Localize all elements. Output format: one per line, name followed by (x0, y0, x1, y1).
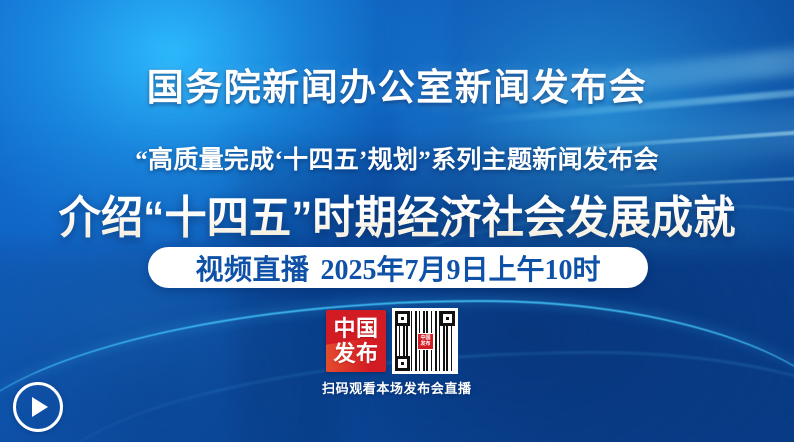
topic-headline: 介绍“十四五”时期经济社会发展成就 (24, 181, 770, 246)
qr-logo-block: 中国 发布 中国 发布 扫码观看本场发布会直播 (322, 307, 464, 397)
qr-finder-top-right (440, 311, 455, 326)
qr-caption: 扫码观看本场发布会直播 (322, 378, 464, 397)
brand-logo-line-1: 中国 (333, 316, 378, 341)
broadcast-banner: 国务院新闻办公室新闻发布会 “高质量完成‘十四五’规划”系列主题新闻发布会 介绍… (0, 0, 794, 442)
series-subtitle: “高质量完成‘十四五’规划”系列主题新闻发布会 (0, 140, 794, 176)
qr-finder-bottom-left (395, 356, 410, 371)
qr-finder-top-left (395, 311, 410, 326)
live-broadcast-pill[interactable]: 视频直播 2025年7月9日上午10时 (148, 247, 648, 288)
brand-logo-line-2: 发布 (333, 341, 378, 366)
qr-center-line-2: 发布 (420, 342, 430, 348)
play-button[interactable] (13, 382, 63, 432)
content-layer: 国务院新闻办公室新闻发布会 “高质量完成‘十四五’规划”系列主题新闻发布会 介绍… (0, 0, 794, 442)
qr-code[interactable]: 中国 发布 (392, 308, 458, 374)
page-title: 国务院新闻办公室新闻发布会 (0, 57, 794, 111)
brand-logo: 中国 发布 (326, 310, 386, 372)
qr-code-matrix: 中国 发布 (395, 311, 455, 371)
qr-center-logo: 中国 发布 (417, 333, 434, 350)
live-label: 视频直播 (195, 248, 309, 288)
play-triangle-icon (32, 397, 48, 417)
live-datetime: 2025年7月9日上午10时 (321, 248, 601, 288)
